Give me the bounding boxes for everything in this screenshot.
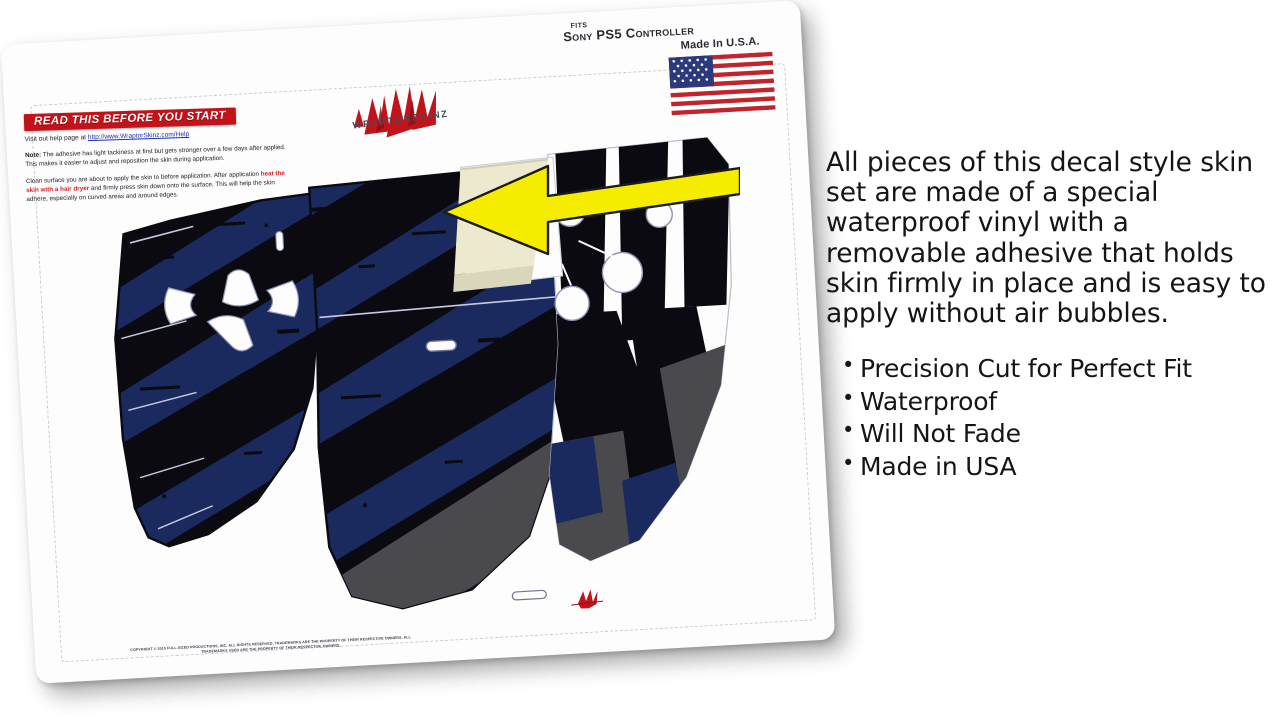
note-label: Note: xyxy=(25,152,41,160)
skin-sheet-paper: FITS Sony PS5 Controller Made In U.S.A. xyxy=(1,0,835,684)
help-url-link[interactable]: http://www.WraptorSkinz.com/Help xyxy=(88,131,190,141)
help-line-prefix: Visit out help page at xyxy=(24,134,88,143)
list-item: Waterproof xyxy=(842,386,1274,419)
callout-paragraph: All pieces of this decal style skin set … xyxy=(826,148,1274,329)
skin-sheet: FITS Sony PS5 Controller Made In U.S.A. xyxy=(1,0,835,684)
marketing-copy: All pieces of this decal style skin set … xyxy=(826,148,1274,483)
note-paragraph: Note: The adhesive has light tackiness a… xyxy=(25,143,293,170)
wraptorskinz-watermark-icon xyxy=(570,588,604,610)
wraptorskinz-logo-icon: WRAPTORSKINZ xyxy=(322,77,475,147)
feature-bullet-list: Precision Cut for Perfect Fit Waterproof… xyxy=(826,353,1274,483)
read-this-ribbon: READ THIS BEFORE YOU START xyxy=(24,107,236,131)
list-item: Precision Cut for Perfect Fit xyxy=(842,353,1274,386)
note-body: The adhesive has light tackiness at firs… xyxy=(25,144,285,168)
instructions-block: READ THIS BEFORE YOU START Visit out hel… xyxy=(24,103,317,204)
product-photo-canvas: FITS Sony PS5 Controller Made In U.S.A. xyxy=(0,0,1280,715)
left-pointing-arrow-icon xyxy=(440,150,740,270)
list-item: Will Not Fade xyxy=(842,418,1274,451)
usa-flag-icon xyxy=(669,52,776,116)
list-item: Made in USA xyxy=(842,451,1274,484)
